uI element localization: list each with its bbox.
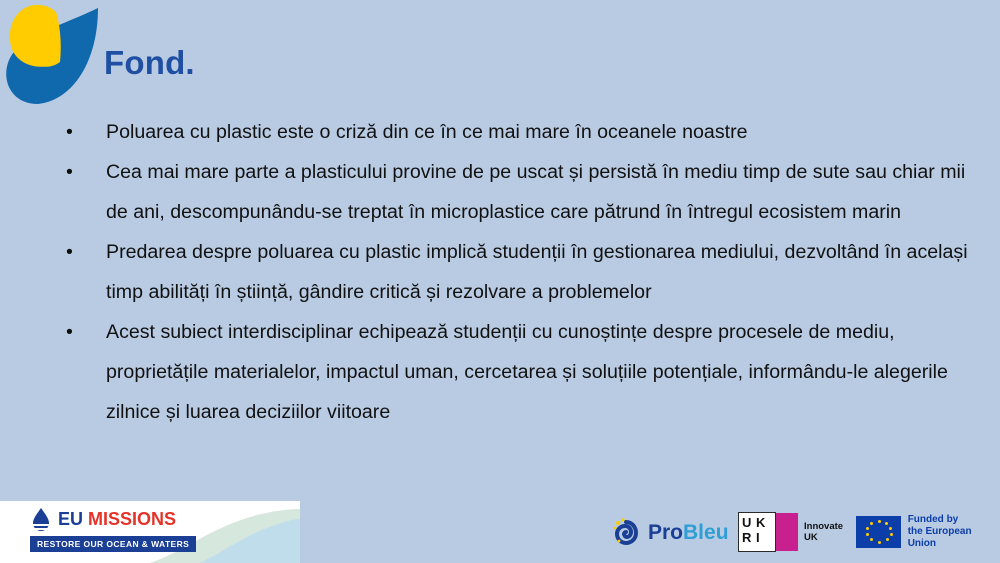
probleu-bleu-text: Bleu <box>683 521 729 544</box>
eu-funded-logo: Funded by the European Union <box>856 513 1000 551</box>
bullet-marker: • <box>66 112 73 152</box>
list-item-text: Cea mai mare parte a plasticului provine… <box>106 152 970 232</box>
list-item: • Cea mai mare parte a plasticului provi… <box>58 152 970 232</box>
eu-missions-eu-text: EU <box>58 509 88 529</box>
probleu-mark-icon <box>612 517 642 547</box>
probleu-logo: ProBleu <box>612 515 729 549</box>
list-item: • Acest subiect interdisciplinar echipea… <box>58 312 970 432</box>
eu-missions-tagline: RESTORE OUR OCEAN & WATERS <box>30 536 196 552</box>
bullet-marker: • <box>66 232 73 272</box>
bullet-list: • Poluarea cu plastic este o criză din c… <box>58 112 970 432</box>
list-item: • Predarea despre poluarea cu plastic im… <box>58 232 970 312</box>
ukri-letter-i: I <box>756 531 760 544</box>
eu-missions-logo: EU MISSIONS RESTORE OUR OCEAN & WATERS <box>0 501 300 563</box>
ukri-letter-k: K <box>756 516 765 529</box>
eu-flag-icon <box>856 516 901 548</box>
eu-funded-text: Funded by the European Union <box>908 514 1000 550</box>
bullet-marker: • <box>66 152 73 192</box>
water-drop-icon <box>30 507 52 533</box>
footer: EU MISSIONS RESTORE OUR OCEAN & WATERS P… <box>0 501 1000 563</box>
page-title: Fond. <box>104 46 195 79</box>
innovate-uk-text: Innovate UK <box>804 521 843 543</box>
list-item-text: Predarea despre poluarea cu plastic impl… <box>106 232 970 312</box>
list-item: • Poluarea cu plastic este o criză din c… <box>58 112 970 152</box>
ukri-logo: U K R I Innovate UK <box>738 513 843 551</box>
probleu-pro-text: Pro <box>648 521 683 544</box>
innovate-uk-line1: Innovate <box>804 521 843 532</box>
eu-funded-line2: the European Union <box>908 526 972 549</box>
ukri-magenta-block <box>776 513 798 551</box>
ukri-monogram-icon: U K R I <box>738 512 776 552</box>
innovate-uk-line2: UK <box>804 532 818 543</box>
ukri-letter-r: R <box>742 531 751 544</box>
bullet-marker: • <box>66 312 73 352</box>
list-item-text: Poluarea cu plastic este o criză din ce … <box>106 112 970 152</box>
slide-root: Fond. • Poluarea cu plastic este o criză… <box>0 0 1000 563</box>
eu-missions-wordmark: EU MISSIONS <box>58 509 176 529</box>
ukri-letter-u: U <box>742 516 751 529</box>
probleu-wordmark: ProBleu <box>648 522 729 543</box>
fond-leaf-logo-icon <box>2 0 110 108</box>
eu-funded-line1: Funded by <box>908 514 959 525</box>
eu-missions-missions-text: MISSIONS <box>88 509 176 529</box>
list-item-text: Acest subiect interdisciplinar echipează… <box>106 312 970 432</box>
